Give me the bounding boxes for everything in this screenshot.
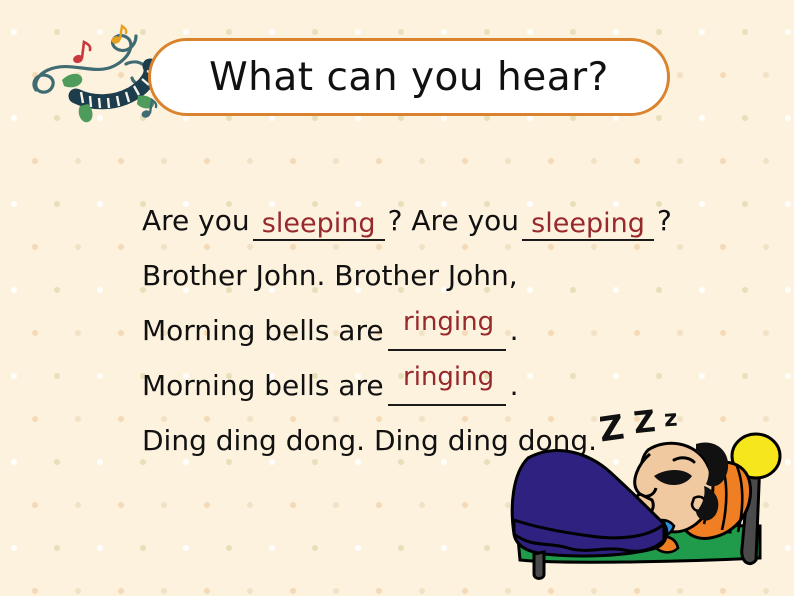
answer-blank-sleeping-1[interactable]: sleeping bbox=[253, 210, 385, 241]
sleeping-man-in-bed bbox=[498, 398, 794, 596]
lyric-line-1: Are you sleeping ? Are you sleeping ? bbox=[142, 186, 742, 241]
lyric-line-4-part1: Morning bells are bbox=[142, 372, 384, 406]
slide-canvas: What can you hear? Are you sleeping ? Ar… bbox=[0, 0, 794, 596]
answer-text-ringing-2: ringing bbox=[390, 364, 508, 390]
lyric-line-3-part1: Morning bells are bbox=[142, 317, 384, 351]
answer-text-ringing-1: ringing bbox=[390, 309, 508, 335]
lyric-line-2: Brother John. Brother John, bbox=[142, 241, 742, 296]
answer-blank-sleeping-2[interactable]: sleeping bbox=[522, 210, 654, 241]
eighth-note-red bbox=[72, 42, 90, 64]
lyric-line-2-text: Brother John. Brother John, bbox=[142, 262, 518, 296]
lyric-line-1-part3: ? bbox=[657, 207, 672, 241]
answer-blank-ringing-2[interactable]: ringing bbox=[388, 382, 506, 406]
title-box: What can you hear? bbox=[148, 38, 670, 116]
lyric-line-1-part1: Are you bbox=[142, 207, 250, 241]
lyric-line-3-part2: . bbox=[510, 317, 519, 351]
lyric-line-1-part2: ? Are you bbox=[388, 207, 519, 241]
lyric-line-3: Morning bells are ringing . bbox=[142, 296, 742, 351]
page-title: What can you hear? bbox=[209, 55, 609, 100]
answer-blank-ringing-1[interactable]: ringing bbox=[388, 327, 506, 351]
